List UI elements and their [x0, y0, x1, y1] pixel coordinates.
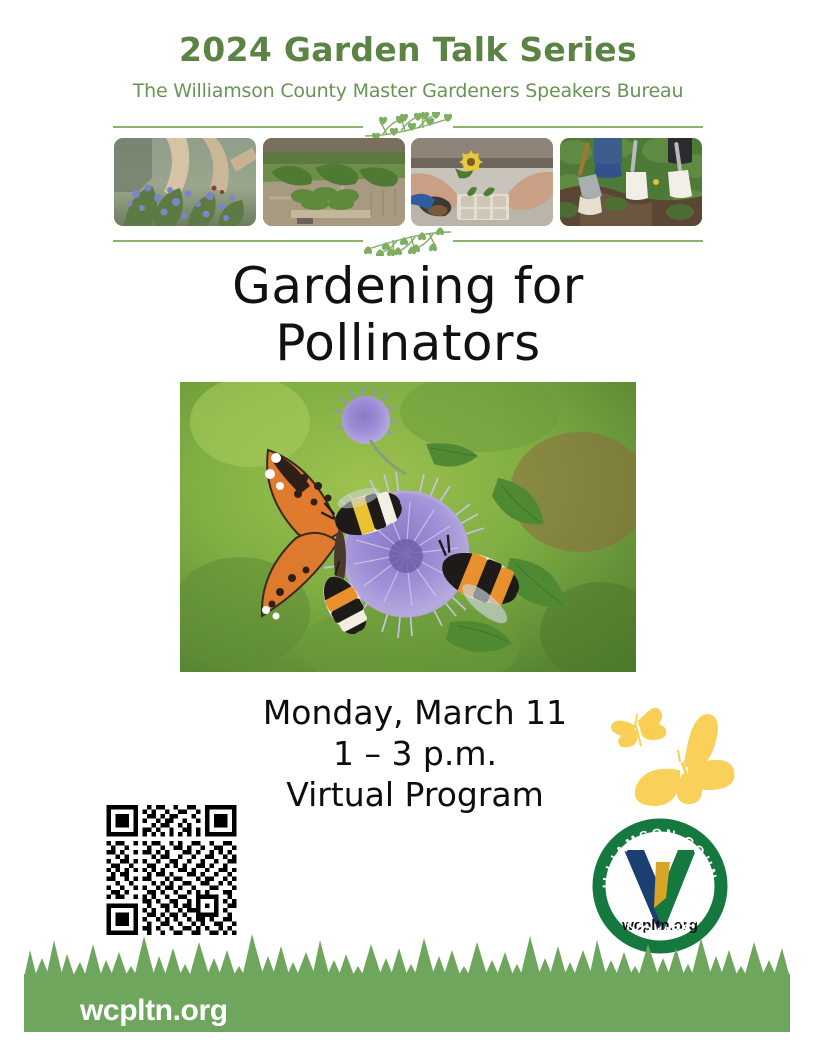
divider-rule-right: [453, 126, 703, 128]
divider-bottom: [113, 226, 703, 256]
photo-strip: [114, 138, 702, 226]
butterfly-small-icon: [611, 708, 666, 747]
divider-rule-left-2: [113, 240, 363, 242]
page-title: Gardening for Pollinators: [0, 258, 816, 372]
footer-url[interactable]: wcpltn.org: [80, 994, 228, 1028]
butterfly-decoration: [598, 692, 738, 810]
vine-sprig-icon-2: [353, 226, 463, 256]
series-subtitle: The Williamson County Master Gardeners S…: [0, 80, 816, 102]
strip-photo-1: [114, 138, 256, 226]
main-title-line-1: Gardening for: [0, 258, 816, 315]
qr-code[interactable]: [100, 805, 243, 935]
strip-photo-2: [263, 138, 405, 226]
main-title-line-2: Pollinators: [0, 315, 816, 372]
series-title: 2024 Garden Talk Series: [0, 30, 816, 69]
divider-rule-left: [113, 126, 363, 128]
divider-rule-right-2: [453, 240, 703, 242]
strip-photo-3: [411, 138, 553, 226]
strip-photo-4: [560, 138, 702, 226]
hero-photo: [180, 382, 636, 672]
